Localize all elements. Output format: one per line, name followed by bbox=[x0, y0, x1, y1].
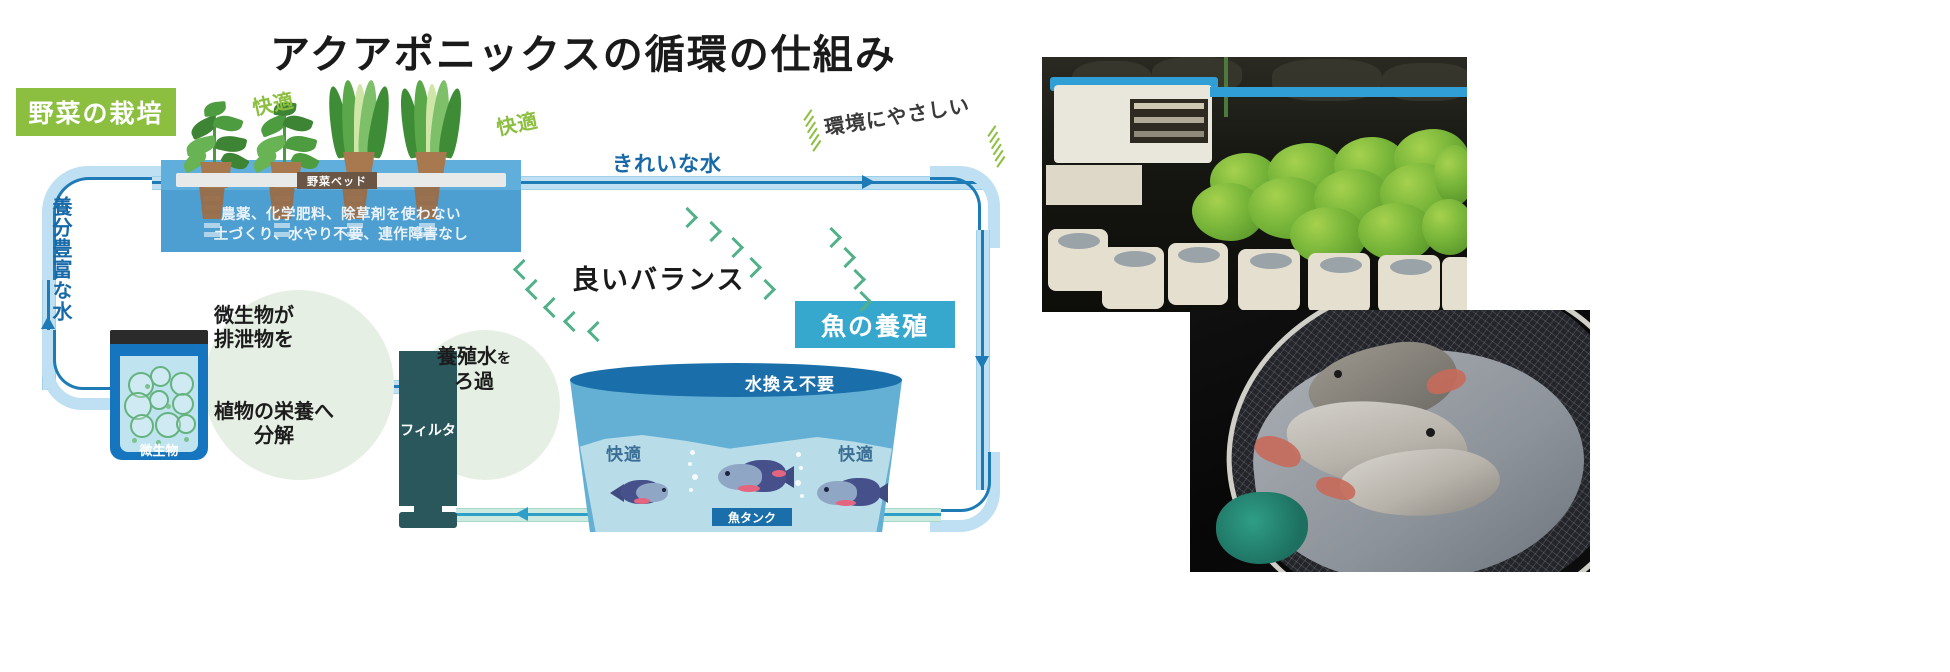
tank-bubble-4 bbox=[689, 488, 693, 492]
badge-fish-farming: 魚の養殖 bbox=[795, 301, 955, 348]
label-nutrient-water: 養分豊富な水 bbox=[46, 196, 72, 366]
label-good-balance: 良いバランス bbox=[572, 258, 745, 297]
fish-photo-eye-1 bbox=[1334, 370, 1342, 378]
greenhouse-pot-insert-2 bbox=[1114, 251, 1156, 267]
fish-3 bbox=[812, 476, 888, 510]
microbe-note-1-line-2: 排泄物を bbox=[214, 328, 294, 352]
microbe-note-1: 微生物が 排泄物を bbox=[214, 304, 294, 352]
greenhouse-grate-3 bbox=[1134, 131, 1204, 137]
label-eco-friendly: 環境にやさしい bbox=[822, 89, 972, 141]
microbe-note-2: 植物の栄養へ 分解 bbox=[214, 400, 334, 448]
tank-bubble-5 bbox=[796, 452, 801, 457]
vegetable-bed-label: 野菜ベッド bbox=[297, 172, 377, 189]
filter-note: 養殖水を ろ過 bbox=[437, 345, 511, 394]
hatch-mark-right bbox=[971, 125, 1020, 177]
plant-lettuce-1 bbox=[326, 78, 392, 182]
microbe-bubble-6 bbox=[172, 393, 194, 415]
tick-arc-11 bbox=[821, 227, 842, 248]
greenhouse-bench bbox=[1046, 165, 1142, 205]
tick-arc-13 bbox=[845, 269, 866, 290]
tank-bubble-3 bbox=[692, 474, 698, 480]
tick-arc-10 bbox=[755, 279, 776, 300]
tick-arc-4 bbox=[563, 311, 584, 332]
tick-arc-6 bbox=[677, 207, 698, 228]
greenhouse-pot-insert-4 bbox=[1250, 253, 1292, 269]
fish-2 bbox=[712, 458, 794, 496]
greenhouse-grate-1 bbox=[1134, 103, 1204, 109]
microbe-bubble-9 bbox=[176, 414, 196, 434]
tank-bubble-2 bbox=[688, 462, 692, 466]
fish-tank-top-label: 水換え不要 bbox=[700, 370, 880, 395]
microbe-bubble-7 bbox=[130, 414, 154, 438]
filter-base bbox=[399, 512, 457, 528]
fish-tank-bottom-label: 魚タンク bbox=[712, 508, 792, 526]
tank-bubble-1 bbox=[690, 450, 695, 455]
arrow-right-clean-water bbox=[862, 175, 875, 189]
comfort-label-plants-right: 快適 bbox=[493, 104, 540, 141]
filter-note-line-1: 養殖水を bbox=[437, 345, 511, 370]
greenhouse-pot-insert-5 bbox=[1320, 257, 1362, 273]
tick-arc-3 bbox=[543, 297, 564, 318]
tick-arc-7 bbox=[701, 221, 722, 242]
badge-vegetable-cultivation: 野菜の栽培 bbox=[16, 88, 176, 136]
microbe-dot-2 bbox=[166, 404, 171, 409]
microbe-note-1-line-1: 微生物が bbox=[214, 304, 294, 328]
tick-arc-2 bbox=[525, 279, 546, 300]
greenhouse-grate-2 bbox=[1134, 117, 1204, 123]
arrow-left-return bbox=[515, 507, 528, 521]
arrow-down-to-tank bbox=[975, 356, 989, 369]
photo-lettuce-greenhouse bbox=[1042, 57, 1467, 312]
microbe-note-2-line-1: 植物の栄養へ bbox=[214, 400, 334, 424]
microbe-bubble-2 bbox=[150, 366, 171, 387]
tank-bubble-8 bbox=[800, 494, 804, 498]
plant-lettuce-2 bbox=[398, 78, 464, 182]
comfort-label-tank-right: 快適 bbox=[838, 440, 874, 465]
plant-basil-1 bbox=[180, 100, 252, 180]
label-clean-water: きれいな水 bbox=[612, 148, 722, 178]
filter-note-main: 養殖水 bbox=[437, 346, 497, 368]
filter-note-line-2: ろ過 bbox=[437, 370, 511, 394]
greenhouse-pot-insert-1 bbox=[1058, 233, 1100, 249]
vegetable-note-line-2: 土づくり、水やり不要、連作障害なし bbox=[161, 225, 521, 245]
greenhouse-pot-insert-6 bbox=[1390, 259, 1432, 275]
microbe-note-2-line-2: 分解 bbox=[214, 424, 334, 448]
tank-bubble-7 bbox=[795, 480, 801, 486]
tank-bubble-6 bbox=[799, 466, 803, 470]
page-title: アクアポニックスの循環の仕組み bbox=[270, 22, 830, 80]
greenhouse-pot-insert-3 bbox=[1178, 247, 1220, 263]
filter-label: フィルタ bbox=[399, 420, 457, 440]
tick-arc-1 bbox=[513, 259, 534, 280]
filter-note-suffix: を bbox=[497, 350, 511, 366]
greenhouse-pipe-run bbox=[1210, 87, 1467, 97]
tick-arc-5 bbox=[587, 321, 608, 342]
pipe-flow-corner-top-right bbox=[930, 177, 981, 240]
fish-1 bbox=[610, 478, 672, 508]
fish-photo-eye-2 bbox=[1426, 428, 1435, 437]
tick-arc-8 bbox=[723, 237, 744, 258]
photo-harvested-fish bbox=[1190, 310, 1590, 572]
greenhouse-pot-7 bbox=[1442, 257, 1467, 312]
microbe-dot-1 bbox=[145, 384, 150, 389]
infographic-canvas: アクアポニックスの循環の仕組み 野菜の栽培 bbox=[0, 0, 1950, 672]
vegetable-bed-notes: 農薬、化学肥料、除草剤を使わない 土づくり、水やり不要、連作障害なし bbox=[161, 205, 521, 245]
vegetable-note-line-1: 農薬、化学肥料、除草剤を使わない bbox=[161, 205, 521, 225]
microbe-tank-caption: 微生物 bbox=[110, 440, 208, 459]
tick-arc-12 bbox=[835, 247, 856, 268]
comfort-label-tank-left: 快適 bbox=[606, 440, 642, 465]
